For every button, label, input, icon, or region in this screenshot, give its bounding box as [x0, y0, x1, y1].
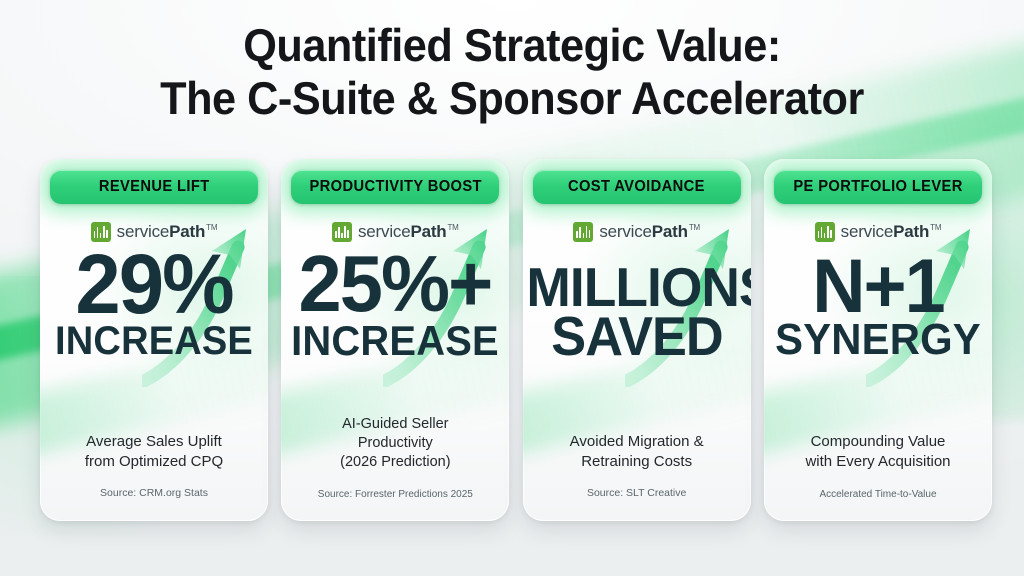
stat-card-cost-avoidance[interactable]: COST AVOIDANCE servicePathTM MILLIONS SA…: [523, 159, 751, 521]
trademark-symbol: TM: [689, 223, 700, 232]
card-description: Compounding Value with Every Acquisition: [791, 432, 964, 472]
logo-word-service: service: [599, 222, 651, 241]
card-statistic: MILLIONS SAVED: [523, 242, 751, 361]
card-header-pill: PRODUCTIVITY BOOST: [291, 170, 499, 204]
logo-wordmark: servicePathTM: [599, 222, 700, 242]
bar-chart-icon: [815, 222, 835, 242]
card-description: Avoided Migration & Retraining Costs: [556, 432, 718, 472]
card-source: Accelerated Time-to-Value: [809, 488, 946, 501]
description-line-3: (2026 Prediction): [340, 453, 450, 472]
card-description: Average Sales Uplift from Optimized CPQ: [71, 432, 237, 472]
trademark-symbol: TM: [930, 223, 941, 232]
card-statistic: 25%+ INCREASE: [281, 242, 509, 359]
trademark-symbol: TM: [206, 223, 217, 232]
title-line-1: Quantified Strategic Value:: [31, 22, 994, 69]
card-header-pill: REVENUE LIFT: [50, 170, 258, 204]
card-statistic: 29% INCREASE: [40, 242, 268, 359]
servicepath-logo: servicePathTM: [815, 222, 942, 242]
description-line-1: Avoided Migration &: [570, 432, 704, 452]
description-line-2: Productivity: [340, 434, 450, 453]
logo-word-path: Path: [652, 222, 688, 241]
description-line-2: from Optimized CPQ: [85, 452, 223, 472]
card-source: Source: Forrester Predictions 2025: [308, 488, 483, 501]
logo-word-path: Path: [893, 222, 929, 241]
stat-label: INCREASE: [287, 323, 504, 359]
stat-card-revenue-lift[interactable]: REVENUE LIFT servicePathTM 29% INCREASE …: [40, 159, 268, 521]
pill-background: COST AVOIDANCE: [533, 170, 741, 204]
stat-value: MILLIONS: [526, 264, 747, 311]
pill-background: REVENUE LIFT: [50, 170, 258, 204]
stat-label: SYNERGY: [770, 321, 987, 359]
stat-value: 29%: [43, 248, 264, 320]
stat-value: N+1: [767, 254, 988, 319]
logo-word-service: service: [841, 222, 893, 241]
stat-label: INCREASE: [46, 324, 263, 358]
stat-card-row: REVENUE LIFT servicePathTM 29% INCREASE …: [40, 159, 992, 521]
card-header-pill: COST AVOIDANCE: [533, 170, 741, 204]
servicepath-logo: servicePathTM: [573, 222, 700, 242]
card-description: AI-Guided Seller Productivity (2026 Pred…: [326, 415, 464, 472]
stat-card-pe-portfolio-lever[interactable]: PE PORTFOLIO LEVER servicePathTM N+1 SYN…: [764, 159, 992, 521]
pill-background: PRODUCTIVITY BOOST: [291, 170, 499, 204]
card-statistic: N+1 SYNERGY: [764, 242, 992, 359]
description-line-1: AI-Guided Seller: [340, 415, 450, 434]
description-line-1: Average Sales Uplift: [85, 432, 223, 452]
infographic-canvas: Quantified Strategic Value: The C-Suite …: [0, 0, 1024, 576]
trademark-symbol: TM: [448, 223, 459, 232]
title-line-2: The C-Suite & Sponsor Accelerator: [31, 75, 994, 122]
stat-value: 25%+: [285, 250, 506, 319]
card-header-label: REVENUE LIFT: [99, 178, 210, 196]
stat-label: SAVED: [528, 313, 745, 360]
page-title: Quantified Strategic Value: The C-Suite …: [0, 22, 1024, 122]
card-source: Source: CRM.org Stats: [90, 487, 218, 501]
card-header-label: COST AVOIDANCE: [568, 178, 705, 196]
description-line-2: with Every Acquisition: [805, 452, 950, 472]
card-source: Source: SLT Creative: [577, 487, 696, 501]
description-line-2: Retraining Costs: [570, 452, 704, 472]
logo-wordmark: servicePathTM: [841, 222, 942, 242]
pill-background: PE PORTFOLIO LEVER: [774, 170, 982, 204]
card-header-label: PRODUCTIVITY BOOST: [309, 178, 481, 196]
card-header-pill: PE PORTFOLIO LEVER: [774, 170, 982, 204]
card-header-label: PE PORTFOLIO LEVER: [793, 178, 962, 196]
bar-chart-icon: [573, 222, 593, 242]
description-line-1: Compounding Value: [805, 432, 950, 452]
stat-card-productivity-boost[interactable]: PRODUCTIVITY BOOST servicePathTM 25%+ IN…: [281, 159, 509, 521]
